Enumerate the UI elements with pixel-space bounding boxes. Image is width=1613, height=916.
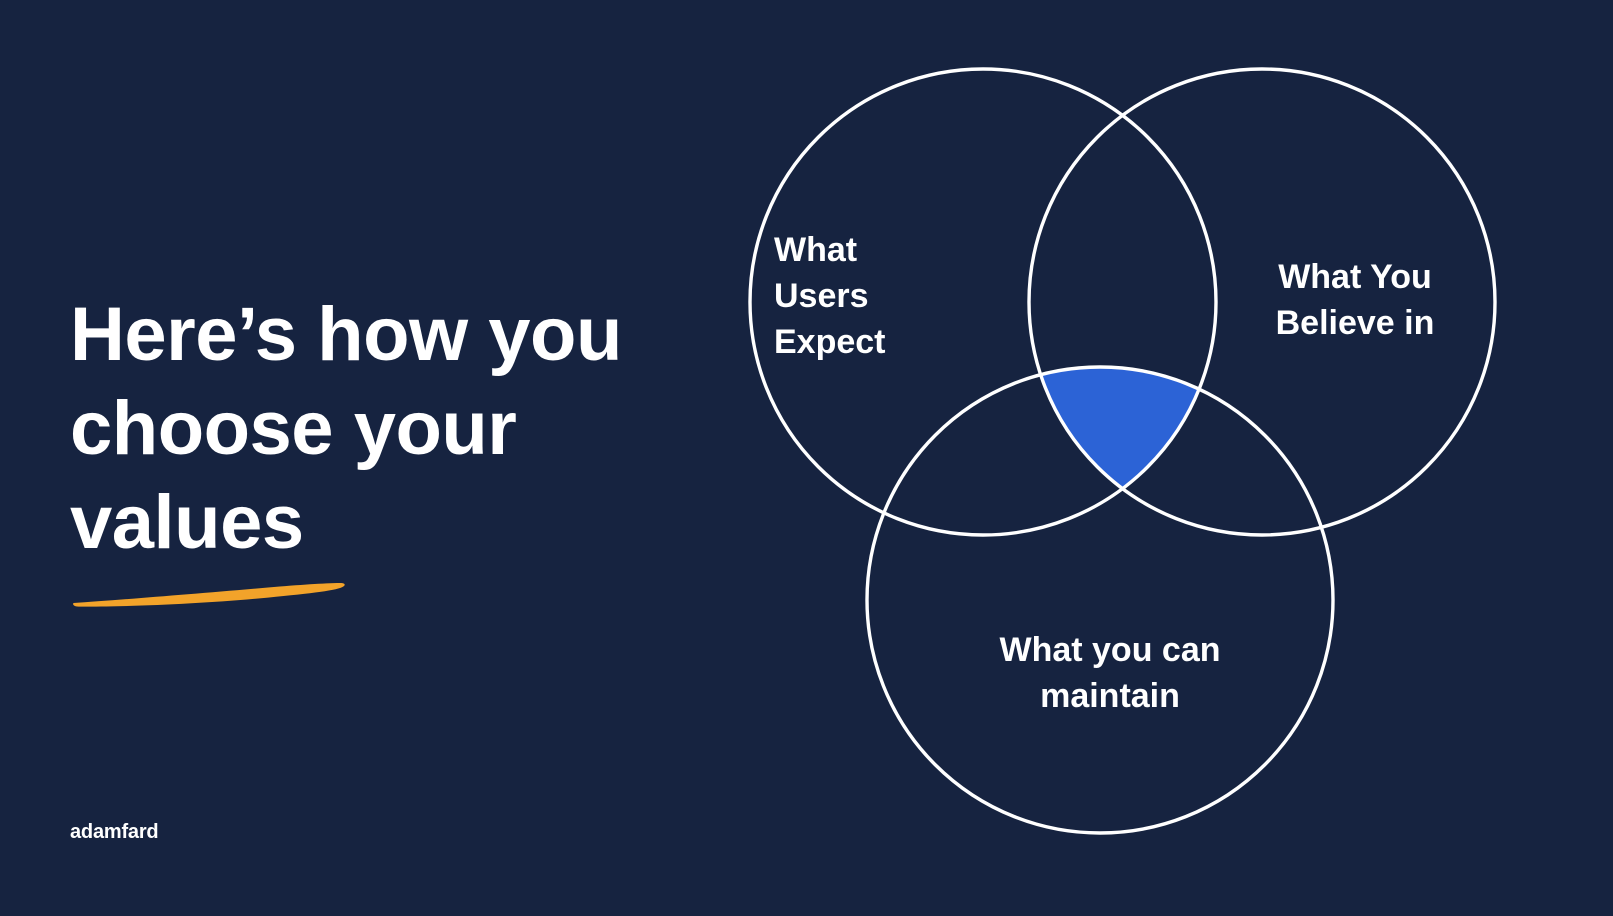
- headline-line-3: values: [70, 476, 710, 570]
- underline-brush-stroke: [72, 573, 347, 607]
- headline-line-1: Here’s how you: [70, 288, 710, 382]
- venn-svg: [735, 50, 1525, 860]
- adamfard-logo: adamfard: [70, 821, 158, 844]
- headline-block: Here’s how you choose your values: [70, 288, 710, 571]
- headline-line-2: choose your: [70, 382, 710, 476]
- triple-intersection-fill: [735, 50, 1525, 860]
- slide-canvas: Here’s how you choose your values adamfa…: [0, 0, 1613, 916]
- venn-diagram: What Users Expect What You Believe in Wh…: [735, 50, 1525, 860]
- page-title: Here’s how you choose your values: [70, 288, 710, 571]
